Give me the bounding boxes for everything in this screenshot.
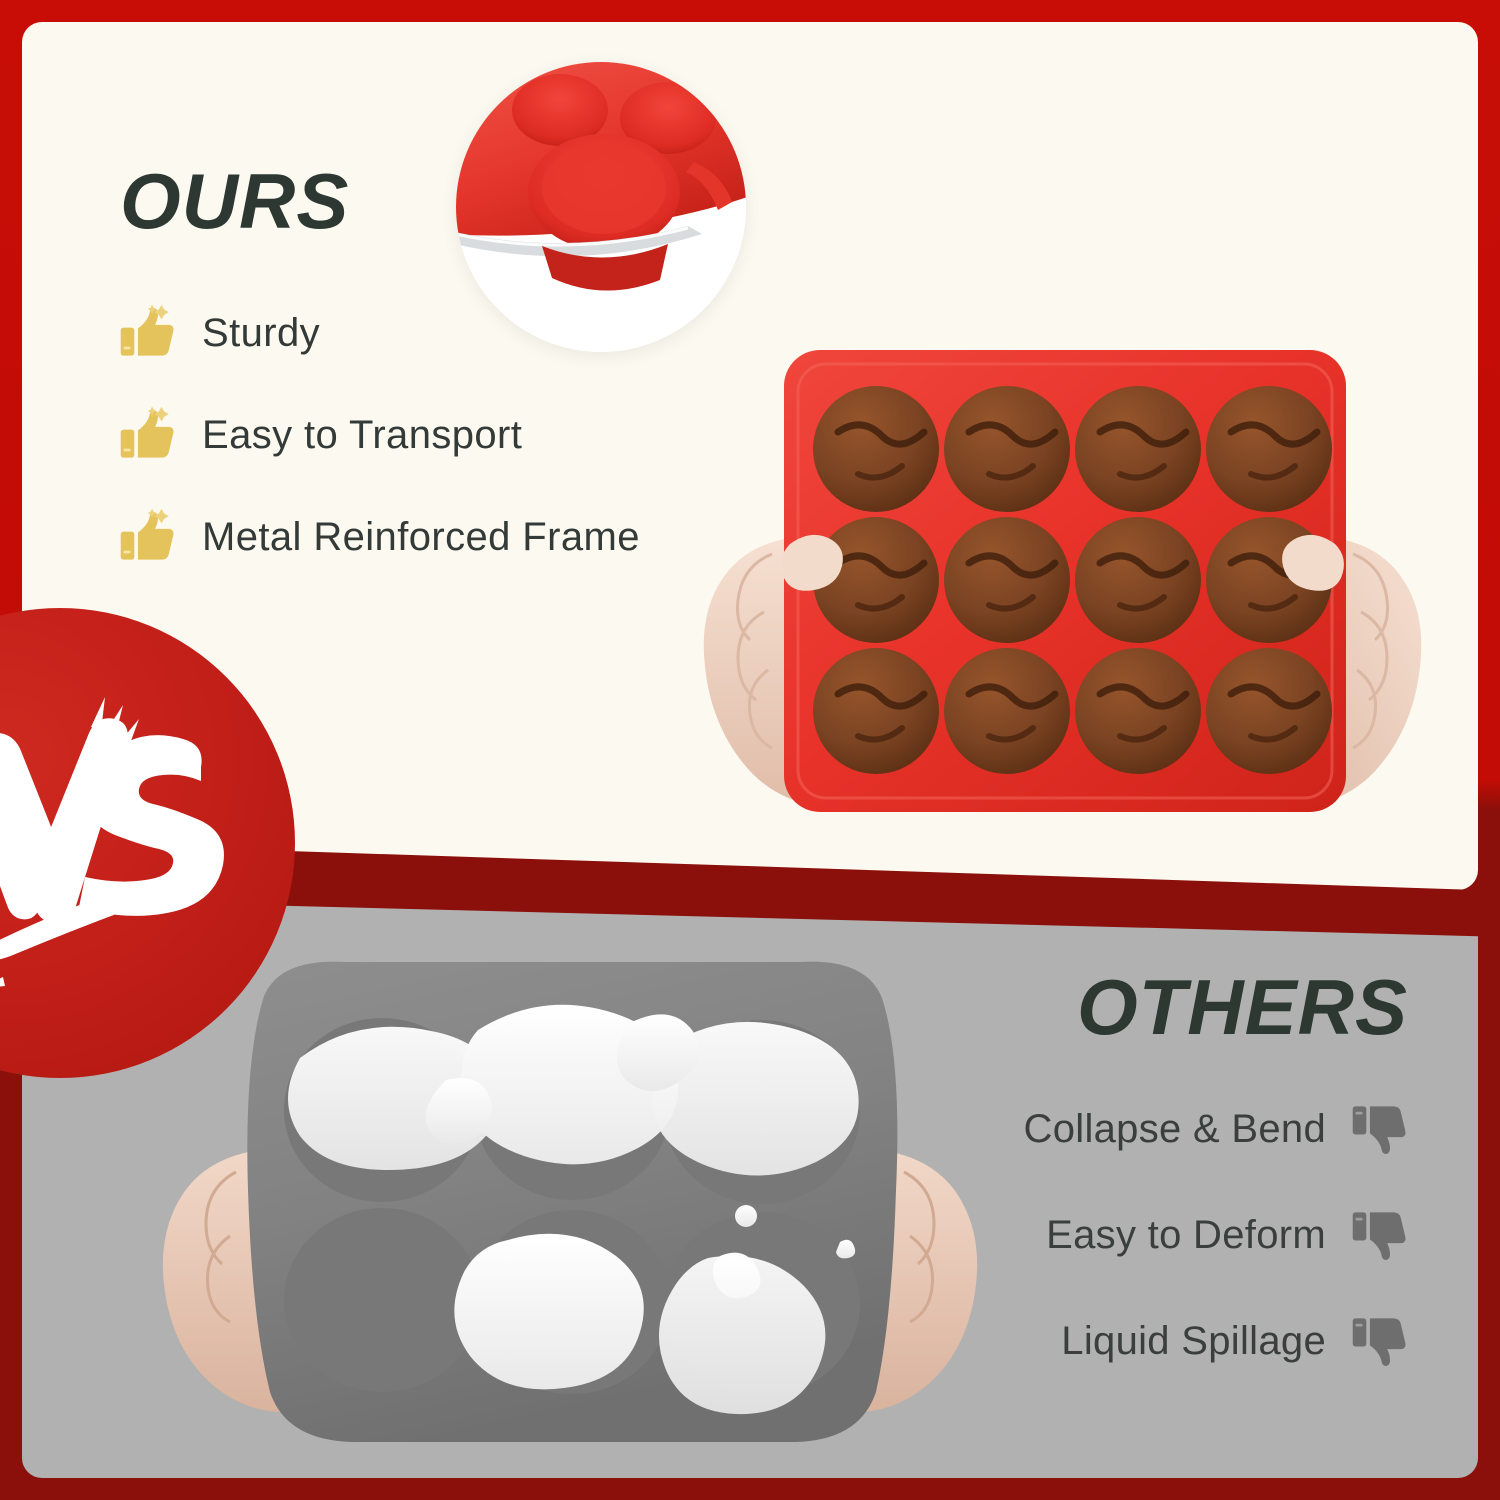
ours-feature-item: Sturdy xyxy=(118,304,640,362)
others-feature-label: Easy to Deform xyxy=(1046,1213,1326,1258)
muffin xyxy=(944,648,1070,774)
others-feature-item: Collapse & Bend xyxy=(1024,1100,1408,1158)
muffin xyxy=(944,517,1070,643)
others-feature-item: Liquid Spillage xyxy=(1061,1312,1408,1370)
vs-brushstroke-mark xyxy=(0,693,239,993)
thumbs-up-icon xyxy=(118,304,176,362)
others-title: OTHERS xyxy=(1077,968,1408,1046)
muffin xyxy=(813,386,939,512)
thumbs-down-icon xyxy=(1350,1206,1408,1264)
others-product-photo xyxy=(160,940,980,1478)
ours-feature-label: Metal Reinforced Frame xyxy=(202,515,640,560)
thumbs-up-icon xyxy=(118,406,176,464)
muffin xyxy=(1206,386,1332,512)
muffin xyxy=(1075,517,1201,643)
others-feature-list: Collapse & Bend Easy to Deform Liqui xyxy=(1024,1100,1408,1370)
thumbs-down-icon xyxy=(1350,1100,1408,1158)
muffin xyxy=(1075,648,1201,774)
muffin xyxy=(813,648,939,774)
ours-product-photo xyxy=(622,312,1478,872)
others-feature-label: Liquid Spillage xyxy=(1061,1319,1326,1364)
muffin xyxy=(944,386,1070,512)
ours-feature-item: Easy to Transport xyxy=(118,406,640,464)
ours-feature-list: Sturdy Easy to Transport xyxy=(118,304,640,566)
others-feature-label: Collapse & Bend xyxy=(1024,1107,1326,1152)
thumbs-up-icon xyxy=(118,508,176,566)
muffin xyxy=(1075,386,1201,512)
others-feature-item: Easy to Deform xyxy=(1046,1206,1408,1264)
ours-feature-label: Easy to Transport xyxy=(202,413,522,458)
ours-title: OURS xyxy=(120,162,349,240)
thumbs-down-icon xyxy=(1350,1312,1408,1370)
muffin xyxy=(1206,648,1332,774)
ours-feature-item: Metal Reinforced Frame xyxy=(118,508,640,566)
ours-feature-label: Sturdy xyxy=(202,311,320,356)
